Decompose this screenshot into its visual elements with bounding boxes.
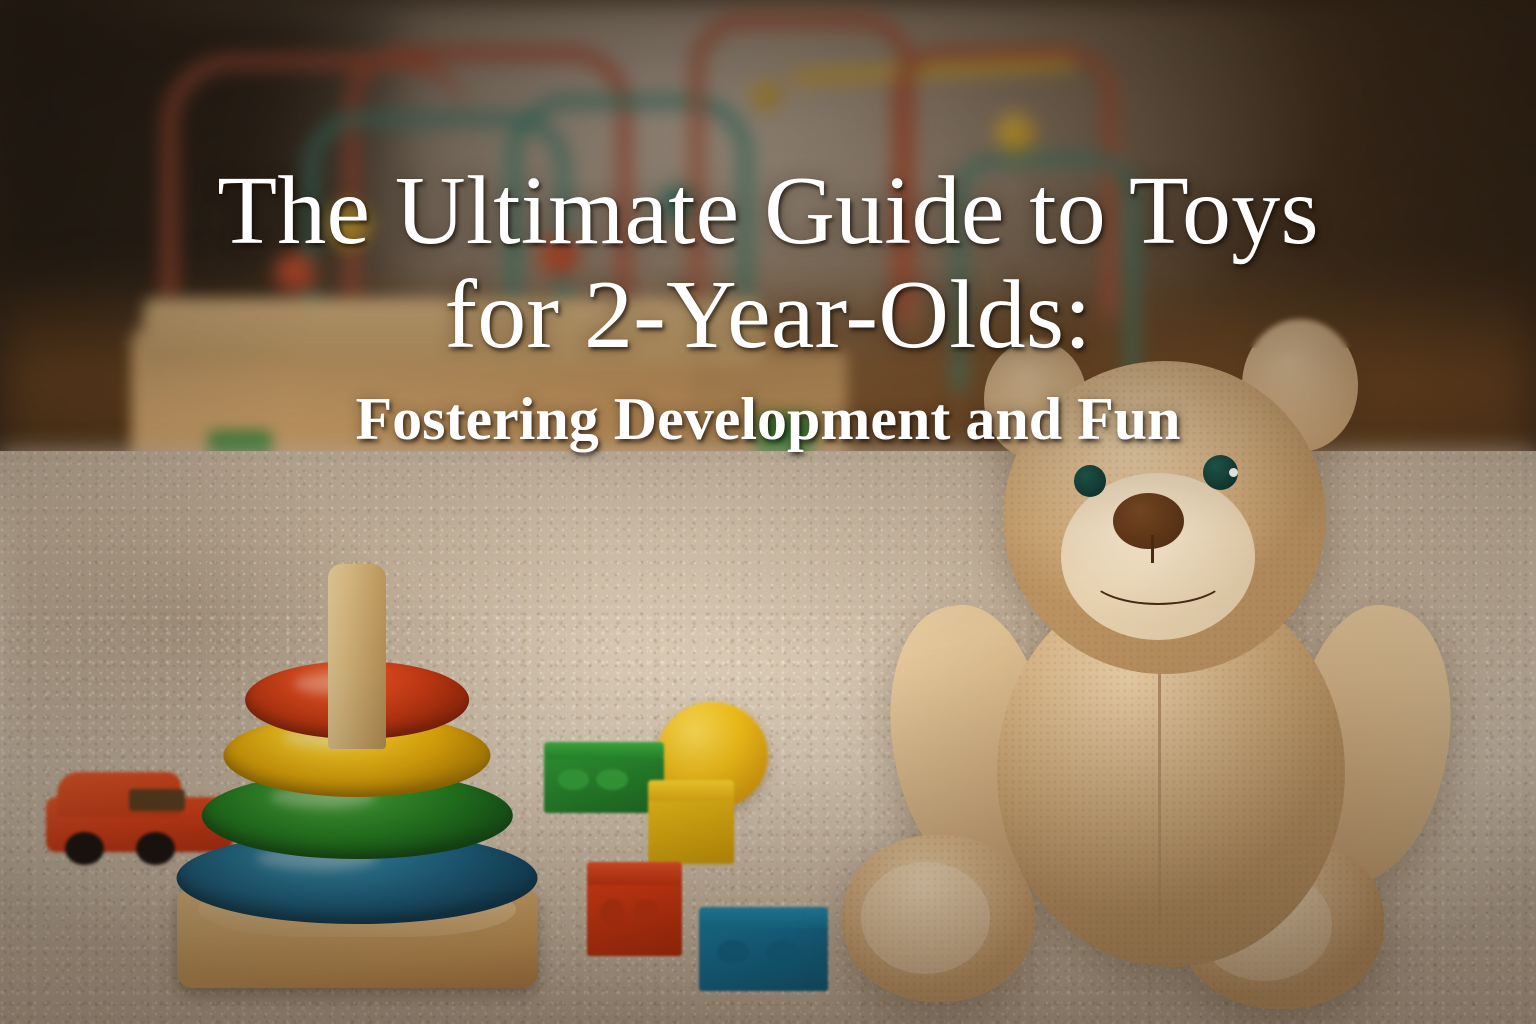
- bear-mouth: [1087, 542, 1229, 605]
- bear-body-seam: [1158, 661, 1161, 926]
- block-top: [648, 780, 734, 800]
- block-green: [544, 756, 664, 813]
- page-title: The Ultimate Guide to Toys for 2-Year-Ol…: [40, 160, 1496, 368]
- toy-car-wheel: [136, 832, 175, 865]
- block-top: [587, 862, 682, 885]
- title-line-1: The Ultimate Guide to Toys: [217, 157, 1319, 265]
- block-top: [699, 907, 828, 927]
- stacking-ring-toy: [177, 527, 538, 988]
- bear-eye-left: [1074, 465, 1106, 497]
- stacker-peg: [328, 564, 386, 748]
- bead-yellow: [995, 113, 1035, 153]
- bear-nose: [1113, 493, 1184, 549]
- background-photo: [0, 0, 1536, 1024]
- title-line-2: for 2-Year-Olds:: [40, 264, 1496, 368]
- block-face: [648, 797, 734, 865]
- block-stud: [600, 899, 625, 926]
- bear-paw-pad-left: [861, 862, 990, 973]
- hero-text-block: The Ultimate Guide to Toys for 2-Year-Ol…: [0, 160, 1536, 452]
- block-blue: [699, 924, 828, 992]
- page-subtitle: Fostering Development and Fun: [40, 386, 1496, 452]
- block-stud: [596, 769, 627, 790]
- block-stud: [634, 899, 659, 926]
- block-red: [587, 881, 682, 957]
- block-yellow: [648, 797, 734, 865]
- block-top: [544, 742, 664, 759]
- hero-banner: The Ultimate Guide to Toys for 2-Year-Ol…: [0, 0, 1536, 1024]
- toy-car-wheel: [65, 832, 104, 865]
